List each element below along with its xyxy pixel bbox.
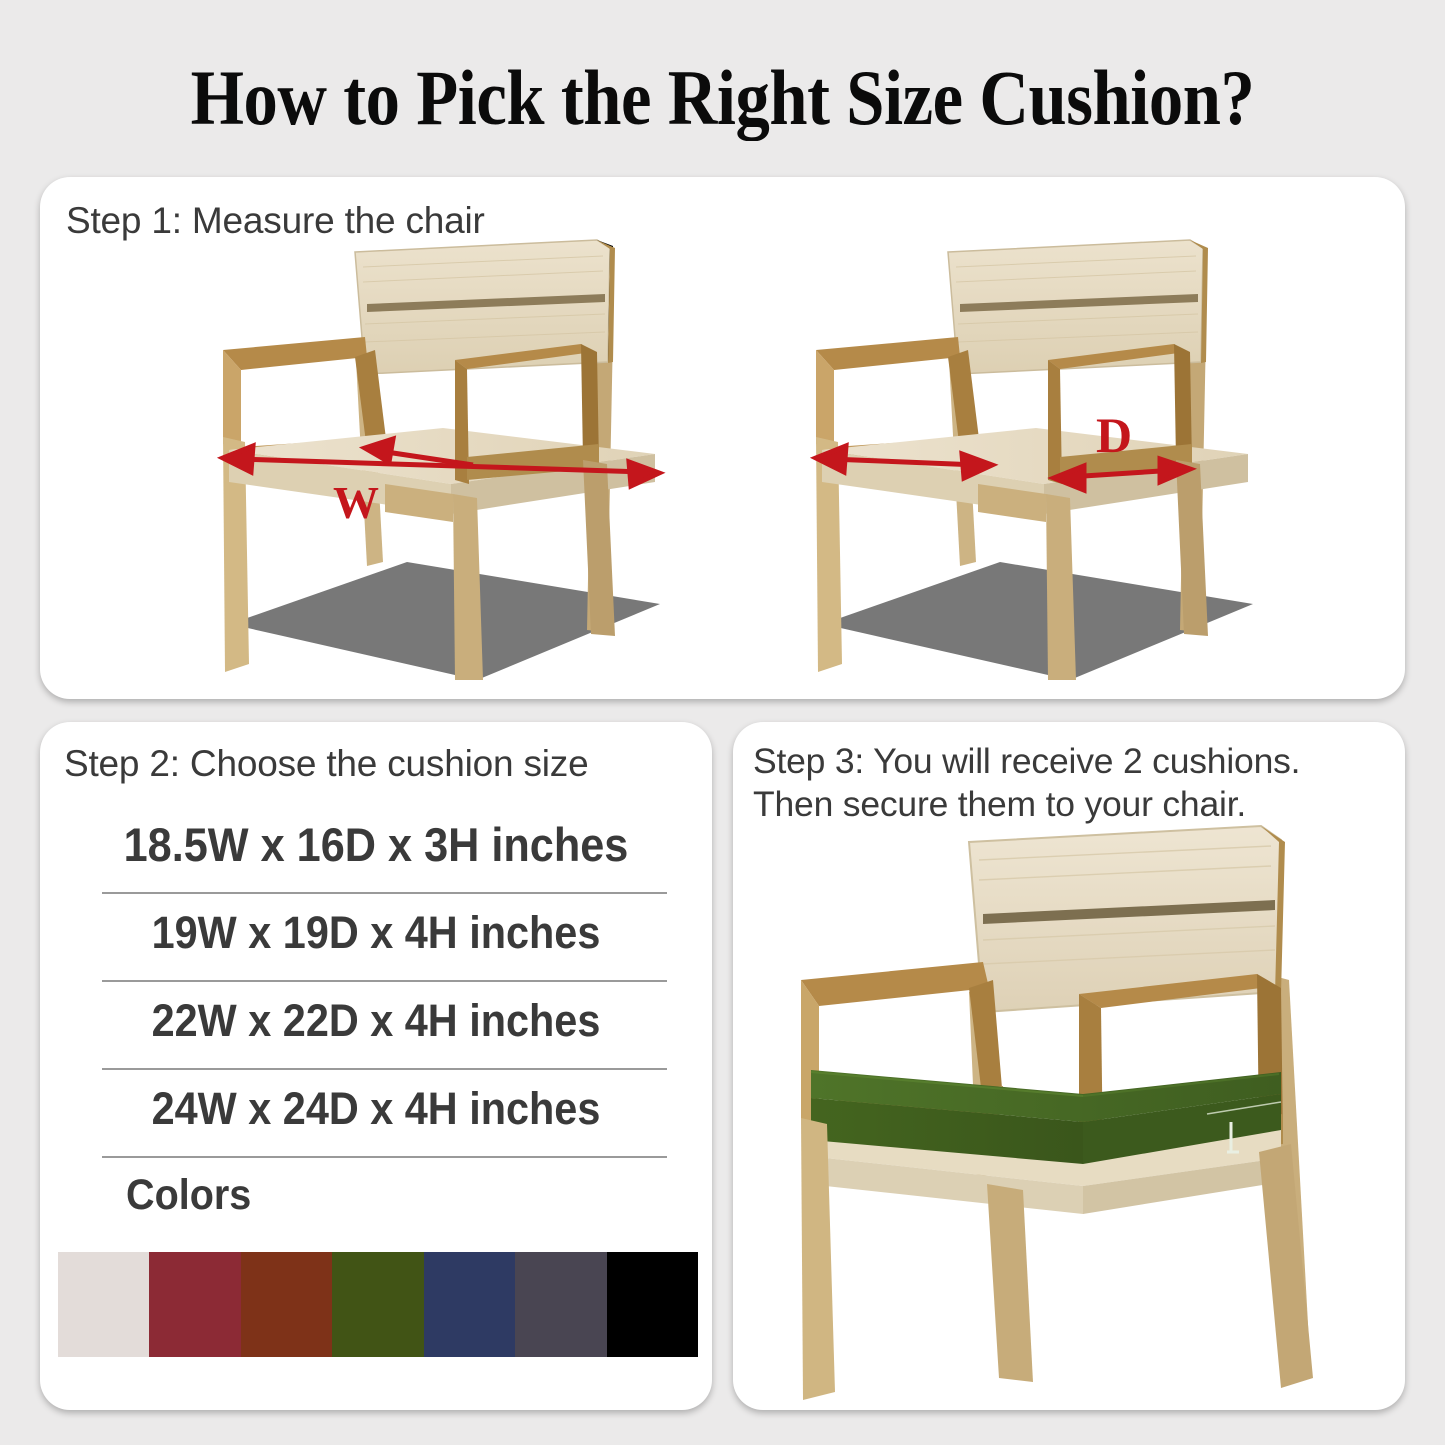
infographic-page: How to Pick the Right Size Cushion? Step… — [0, 0, 1445, 1445]
color-swatch-slate-gray[interactable] — [515, 1252, 606, 1357]
size-option-row[interactable]: 22W x 22D x 4H inches — [40, 990, 712, 1078]
chair-with-cushion-illustration — [761, 822, 1391, 1407]
step-3-panel: Step 3: You will receive 2 cushions. The… — [733, 722, 1405, 1410]
color-swatch-crimson[interactable] — [149, 1252, 240, 1357]
size-divider — [102, 1156, 667, 1158]
size-option-row[interactable]: 18.5W x 16D x 3H inches — [40, 814, 712, 902]
page-title: How to Pick the Right Size Cushion? — [87, 55, 1359, 141]
chair-width-diagram: W — [215, 232, 675, 682]
size-option-label: 18.5W x 16D x 3H inches — [67, 814, 685, 876]
cushion-size-list: 18.5W x 16D x 3H inches 19W x 19D x 4H i… — [40, 814, 712, 1166]
color-swatch-ivory[interactable] — [58, 1252, 149, 1357]
step-1-panel: Step 1: Measure the chair — [40, 177, 1405, 699]
size-divider — [102, 892, 667, 894]
size-option-label: 19W x 19D x 4H inches — [67, 902, 685, 964]
step-3-heading: Step 3: You will receive 2 cushions. The… — [753, 740, 1300, 826]
step-2-heading: Step 2: Choose the cushion size — [64, 742, 588, 786]
color-swatch-olive-green[interactable] — [332, 1252, 423, 1357]
color-swatch-strip — [58, 1252, 698, 1357]
size-option-row[interactable]: 19W x 19D x 4H inches — [40, 902, 712, 990]
size-divider — [102, 980, 667, 982]
size-option-row[interactable]: 24W x 24D x 4H inches — [40, 1078, 712, 1166]
size-option-label: 24W x 24D x 4H inches — [67, 1078, 685, 1140]
color-swatch-black[interactable] — [607, 1252, 698, 1357]
depth-label: D — [1096, 407, 1132, 463]
color-swatch-rust[interactable] — [241, 1252, 332, 1357]
size-option-label: 22W x 22D x 4H inches — [67, 990, 685, 1052]
size-divider — [102, 1068, 667, 1070]
color-swatch-navy-blue[interactable] — [424, 1252, 515, 1357]
chair-depth-diagram: D — [808, 232, 1268, 682]
colors-label: Colors — [126, 1170, 251, 1220]
step-2-panel: Step 2: Choose the cushion size 18.5W x … — [40, 722, 712, 1410]
width-label: W — [333, 477, 379, 528]
